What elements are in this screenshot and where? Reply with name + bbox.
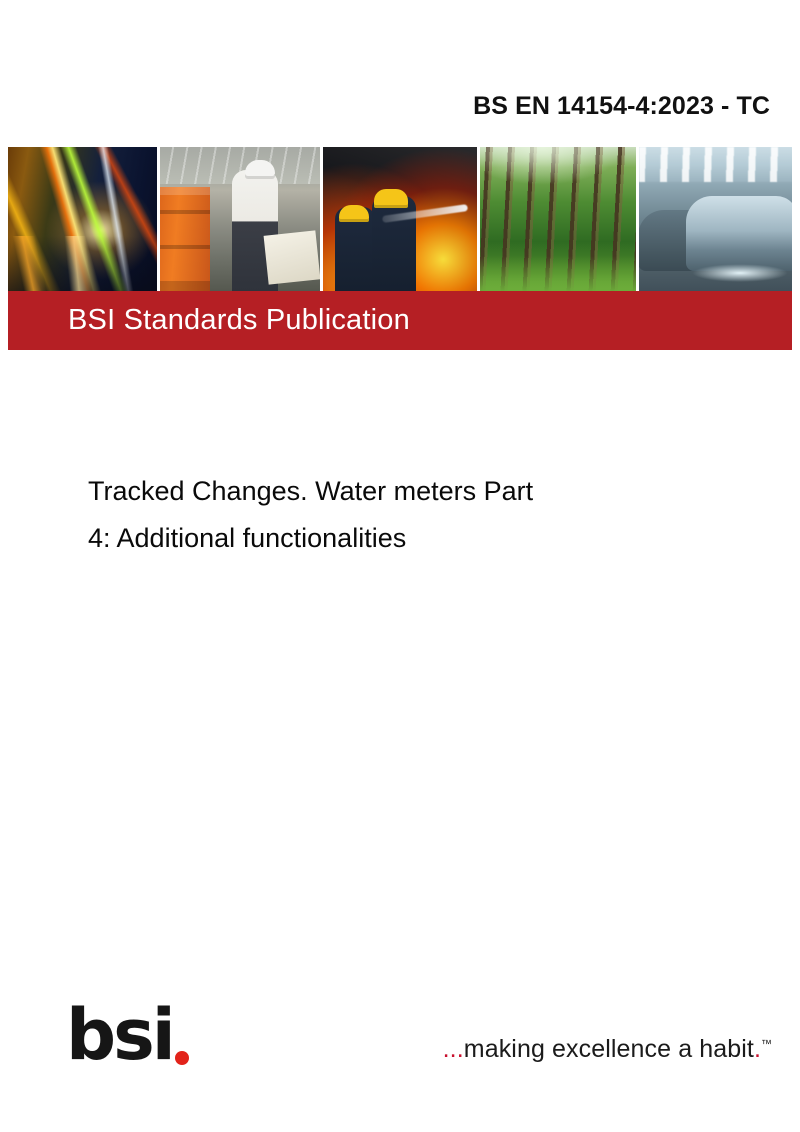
firefighter-helmet-rear [339, 205, 369, 222]
tagline-ellipsis: ... [443, 1035, 464, 1063]
cover-page: BS EN 14154-4:2023 - TC [0, 0, 800, 1132]
warehouse-box [264, 231, 321, 285]
bsi-logo: bsi [66, 1002, 189, 1070]
document-reference: BS EN 14154-4:2023 - TC [473, 92, 770, 121]
firefighters-image [323, 147, 477, 291]
banner-title: BSI Standards Publication [8, 304, 410, 337]
photo-panel-warehouse-worker [160, 147, 324, 291]
cover-photo-strip [8, 147, 792, 291]
tagline-text: making excellence a habit [464, 1035, 754, 1063]
warehouse-worker-image [160, 147, 321, 291]
photo-panel-traffic-light-trails [8, 147, 160, 291]
car-front [686, 196, 792, 271]
document-title-line-1: Tracked Changes. Water meters Part [88, 468, 688, 515]
photo-panel-firefighters [323, 147, 480, 291]
document-title: Tracked Changes. Water meters Part 4: Ad… [88, 468, 688, 562]
bsi-tagline: ...making excellence a habit.™ [443, 1035, 772, 1064]
trademark-icon: ™ [761, 1039, 772, 1051]
photo-panel-forest [480, 147, 640, 291]
forest-image [480, 147, 637, 291]
tagline-period: . [754, 1035, 761, 1063]
warehouse-crate [160, 187, 210, 291]
firefighter-figure-front [372, 196, 416, 291]
car-headlight-beam [692, 264, 788, 282]
bsi-logo-wordmark: bsi [66, 1000, 173, 1070]
forest-canopy-light [480, 147, 637, 190]
firefighter-helmet-front [374, 189, 408, 208]
standards-publication-banner: BSI Standards Publication [8, 291, 792, 350]
document-title-line-2: 4: Additional functionalities [88, 515, 688, 562]
bsi-logo-dot-icon [175, 1051, 189, 1065]
factory-ceiling-lights [639, 147, 792, 182]
automotive-plant-image [639, 147, 792, 291]
photo-panel-automotive-plant [639, 147, 792, 291]
traffic-light-trails-image [8, 147, 157, 291]
